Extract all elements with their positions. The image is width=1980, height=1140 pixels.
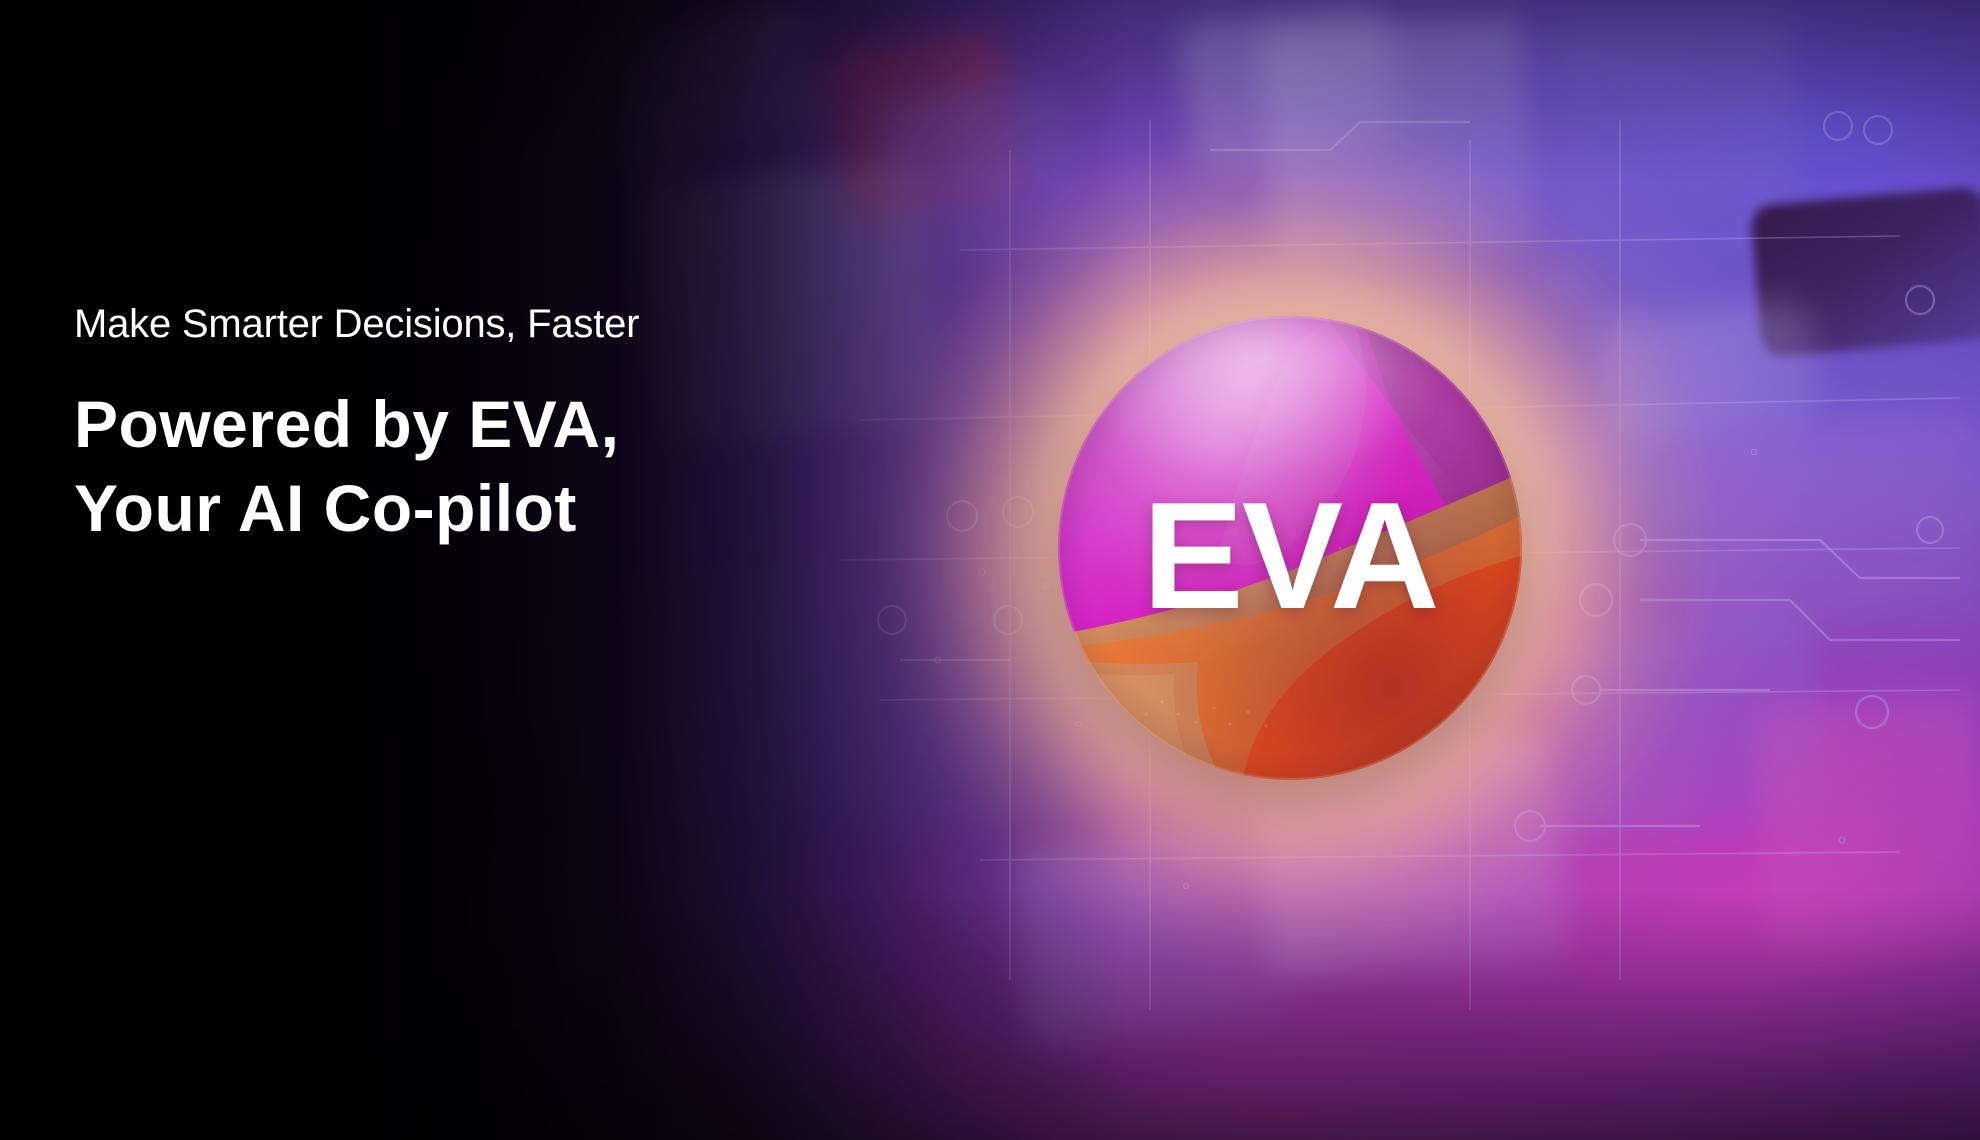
hero-banner: EVA Make Smarter Decisions, Faster Power…	[0, 0, 1980, 1140]
hero-eyebrow: Make Smarter Decisions, Faster	[74, 300, 894, 348]
hero-headline-line-1: Powered by EVA,	[74, 382, 894, 466]
hero-copy-block: Make Smarter Decisions, Faster Powered b…	[74, 300, 894, 551]
eva-wordmark: EVA	[1058, 316, 1522, 780]
eva-logo[interactable]: EVA	[1058, 316, 1522, 780]
hero-headline-line-2: Your AI Co-pilot	[74, 466, 894, 550]
hero-headline: Powered by EVA, Your AI Co-pilot	[74, 382, 894, 551]
eva-logo-sphere: EVA	[1058, 316, 1522, 780]
